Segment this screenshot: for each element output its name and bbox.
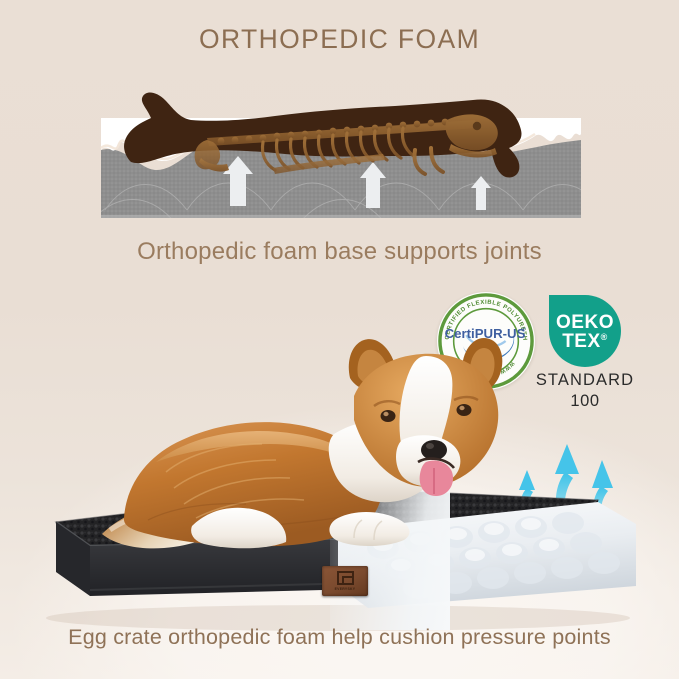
cross-section-foam-diagram (95, 78, 587, 226)
product-infographic: ORTHOPEDIC FOAM (0, 0, 679, 679)
dog-nose (421, 440, 447, 460)
bottom-caption: Egg crate orthopedic foam help cushion p… (0, 625, 679, 650)
oeko-tex-badge: OEKO TEX® (549, 295, 621, 367)
oeko-line2: TEX (562, 331, 600, 352)
dog-front-paws (329, 512, 409, 546)
registered-mark-icon: ® (601, 332, 608, 342)
oeko-tex-wordmark: OEKO TEX® (549, 295, 621, 367)
sable-and-white-dog (96, 322, 544, 570)
oeko-line1: OEKO (556, 313, 614, 332)
dog-eye-left (381, 410, 396, 422)
brand-mark-icon (337, 571, 354, 585)
brand-name: EVERYSKY (335, 587, 356, 591)
page-title: ORTHOPEDIC FOAM (0, 24, 679, 55)
brand-logo-patch: EVERYSKY (322, 566, 368, 596)
top-caption: Orthopedic foam base supports joints (0, 238, 679, 266)
dog-eye-right (457, 404, 472, 416)
oeko-line2-wrap: TEX® (562, 332, 608, 351)
